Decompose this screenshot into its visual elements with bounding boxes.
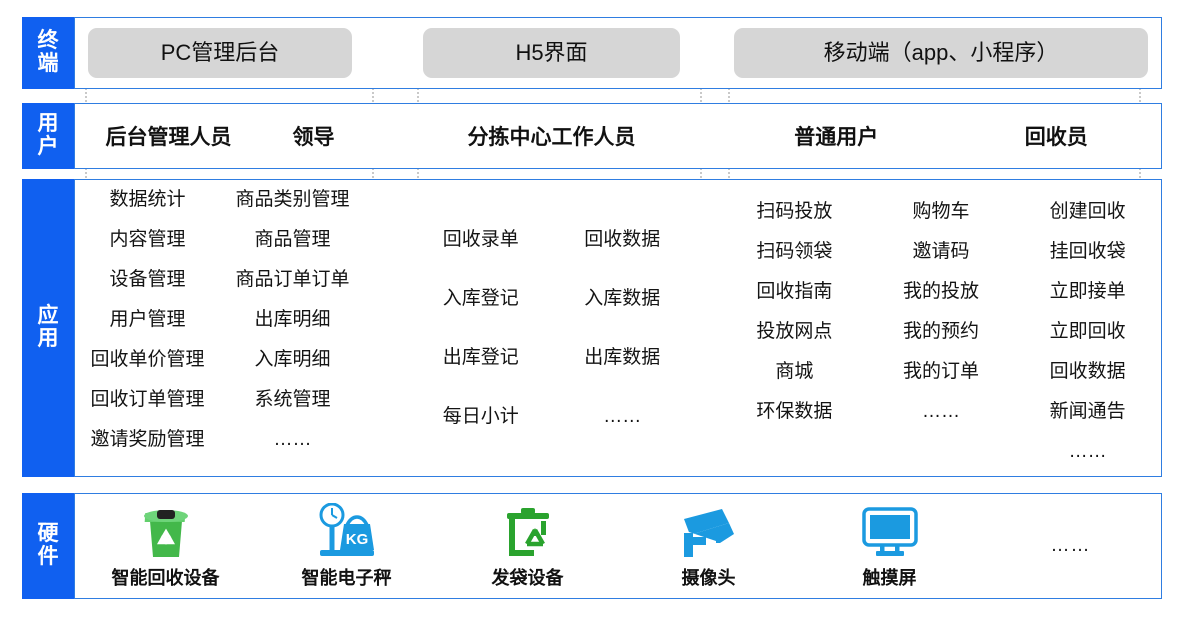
- user-role: 后台管理人员: [106, 121, 232, 151]
- layer-label-terminal-text: 终端: [36, 30, 60, 75]
- app-item[interactable]: 挂回收袋: [1050, 242, 1126, 261]
- app-column: 商品类别管理 商品管理 商品订单订单 出库明细 入库明细 系统管理 ……: [235, 190, 349, 470]
- layer-row-hardware: 硬件 智: [22, 493, 1162, 599]
- app-row-body: 数据统计 内容管理 设备管理 用户管理 回收单价管理 回收订单管理 邀请奖励管理…: [74, 179, 1162, 477]
- user-group-mobile: 普通用户 回收员: [721, 104, 1161, 168]
- user-role: 领导: [293, 121, 335, 151]
- terminal-cell-mobile[interactable]: 移动端（app、小程序）: [721, 28, 1161, 78]
- user-role: 分拣中心工作人员: [468, 121, 636, 151]
- app-item[interactable]: 入库登记: [443, 289, 519, 308]
- app-item-ellipsis: ……: [603, 407, 641, 426]
- hardware-row-body: 智能回收设备 KG 智能电子秤: [74, 493, 1162, 599]
- user-role: 回收员: [1025, 121, 1088, 151]
- app-column: 创建回收 挂回收袋 立即接单 立即回收 回收数据 新闻通告 ……: [1050, 202, 1126, 482]
- terminal-row-body: PC管理后台 H5界面 移动端（app、小程序）: [74, 17, 1162, 89]
- bag-dispenser-icon: [499, 502, 557, 562]
- hardware-item-camera[interactable]: 摄像头: [618, 494, 799, 598]
- app-column: 购物车 邀请码 我的投放 我的预约 我的订单 ……: [903, 202, 979, 442]
- layer-label-user: 用户: [22, 103, 74, 169]
- terminal-cell-pc-admin[interactable]: PC管理后台: [75, 28, 365, 78]
- app-item[interactable]: 系统管理: [254, 390, 330, 409]
- app-item[interactable]: 购物车: [912, 202, 969, 221]
- user-role: 普通用户: [794, 121, 878, 151]
- app-group-mobile: 扫码投放 扫码领袋 回收指南 投放网点 商城 环保数据 购物车 邀请码 我的投放…: [721, 180, 1161, 476]
- terminal-chip-mobile[interactable]: 移动端（app、小程序）: [734, 28, 1148, 78]
- app-column: 回收数据 入库数据 出库数据 ……: [584, 230, 660, 466]
- app-item[interactable]: 用户管理: [109, 310, 185, 329]
- app-item-ellipsis: ……: [922, 402, 960, 421]
- hardware-item-more: ……: [980, 494, 1161, 598]
- app-item[interactable]: 我的投放: [903, 282, 979, 301]
- app-spacer: [365, 180, 410, 476]
- architecture-diagram: 终端 PC管理后台 H5界面 移动端（app、小程序） 用户 后台管理人员 领导: [0, 0, 1182, 617]
- layer-label-user-text: 用户: [36, 113, 60, 158]
- app-column: 扫码投放 扫码领袋 回收指南 投放网点 商城 环保数据: [756, 202, 832, 442]
- app-item[interactable]: 出库数据: [584, 348, 660, 367]
- app-item[interactable]: 每日小计: [443, 407, 519, 426]
- app-item[interactable]: 邀请奖励管理: [90, 430, 204, 449]
- hardware-label: 发袋设备: [492, 564, 564, 590]
- layer-row-user: 用户 后台管理人员 领导 分拣中心工作人员 普通用户 回收员: [22, 103, 1162, 169]
- app-item[interactable]: 商城: [775, 362, 813, 381]
- app-item[interactable]: 扫码投放: [756, 202, 832, 221]
- app-item[interactable]: 邀请码: [912, 242, 969, 261]
- smart-scale-icon: KG: [314, 502, 380, 562]
- smart-recycle-bin-icon: [136, 502, 196, 562]
- app-item[interactable]: 扫码领袋: [756, 242, 832, 261]
- app-column: 回收录单 入库登记 出库登记 每日小计: [443, 230, 519, 466]
- app-item[interactable]: 新闻通告: [1050, 402, 1126, 421]
- app-item[interactable]: 回收数据: [1050, 362, 1126, 381]
- layer-label-terminal: 终端: [22, 17, 74, 89]
- svg-text:KG: KG: [345, 531, 368, 548]
- user-spacer: [693, 104, 721, 168]
- app-group-h5: 回收录单 入库登记 出库登记 每日小计 回收数据 入库数据 出库数据 ……: [410, 180, 693, 476]
- app-item[interactable]: 回收单价管理: [90, 350, 204, 369]
- app-item[interactable]: 入库明细: [254, 350, 330, 369]
- hardware-item-smart-scale[interactable]: KG 智能电子秤: [256, 494, 437, 598]
- app-item[interactable]: 出库登记: [443, 348, 519, 367]
- app-group-pc: 数据统计 内容管理 设备管理 用户管理 回收单价管理 回收订单管理 邀请奖励管理…: [75, 180, 365, 476]
- hardware-item-touchscreen[interactable]: 触摸屏: [799, 494, 980, 598]
- camera-icon: [676, 502, 742, 562]
- app-item-ellipsis: ……: [273, 430, 311, 449]
- app-item[interactable]: 立即回收: [1050, 322, 1126, 341]
- app-item-ellipsis: ……: [1069, 442, 1107, 461]
- layer-label-app-text: 应用: [36, 305, 60, 350]
- app-item[interactable]: 创建回收: [1050, 202, 1126, 221]
- app-item[interactable]: 出库明细: [254, 310, 330, 329]
- app-item[interactable]: 入库数据: [584, 289, 660, 308]
- app-item[interactable]: 我的订单: [903, 362, 979, 381]
- hardware-label: 触摸屏: [863, 564, 917, 590]
- terminal-cell-h5[interactable]: H5界面: [410, 28, 693, 78]
- user-row-body: 后台管理人员 领导 分拣中心工作人员 普通用户 回收员: [74, 103, 1162, 169]
- app-item[interactable]: 回收指南: [756, 282, 832, 301]
- app-item[interactable]: 数据统计: [109, 190, 185, 209]
- hardware-label: 智能电子秤: [302, 564, 392, 590]
- hardware-label: 摄像头: [682, 564, 736, 590]
- app-item[interactable]: 投放网点: [756, 322, 832, 341]
- terminal-chip-h5[interactable]: H5界面: [423, 28, 680, 78]
- touchscreen-icon: [858, 502, 922, 562]
- app-item[interactable]: 商品订单订单: [235, 270, 349, 289]
- user-group-h5: 分拣中心工作人员: [410, 104, 693, 168]
- layer-label-app: 应用: [22, 179, 74, 477]
- layer-row-app: 应用 数据统计 内容管理 设备管理 用户管理 回收单价管理 回收订单管理 邀请奖…: [22, 179, 1162, 477]
- app-column: 数据统计 内容管理 设备管理 用户管理 回收单价管理 回收订单管理 邀请奖励管理: [90, 190, 204, 470]
- user-spacer: [365, 104, 410, 168]
- hardware-label: 智能回收设备: [112, 564, 220, 590]
- app-item[interactable]: 商品类别管理: [235, 190, 349, 209]
- app-item[interactable]: 回收录单: [443, 230, 519, 249]
- terminal-chip-pc-admin[interactable]: PC管理后台: [88, 28, 352, 78]
- app-item[interactable]: 设备管理: [109, 270, 185, 289]
- app-item[interactable]: 回收订单管理: [90, 390, 204, 409]
- layer-label-hardware-text: 硬件: [36, 523, 60, 568]
- app-item[interactable]: 商品管理: [254, 230, 330, 249]
- user-group-pc: 后台管理人员 领导: [75, 104, 365, 168]
- app-spacer: [693, 180, 721, 476]
- app-item[interactable]: 立即接单: [1050, 282, 1126, 301]
- layer-row-terminal: 终端 PC管理后台 H5界面 移动端（app、小程序）: [22, 17, 1162, 89]
- hardware-item-smart-recycle-bin[interactable]: 智能回收设备: [75, 494, 256, 598]
- app-item[interactable]: 内容管理: [109, 230, 185, 249]
- hardware-item-bag-dispenser[interactable]: 发袋设备: [437, 494, 618, 598]
- app-item[interactable]: 我的预约: [903, 322, 979, 341]
- app-item[interactable]: 环保数据: [756, 402, 832, 421]
- layer-label-hardware: 硬件: [22, 493, 74, 599]
- app-item[interactable]: 回收数据: [584, 230, 660, 249]
- ellipsis-icon: ……: [1051, 535, 1091, 557]
